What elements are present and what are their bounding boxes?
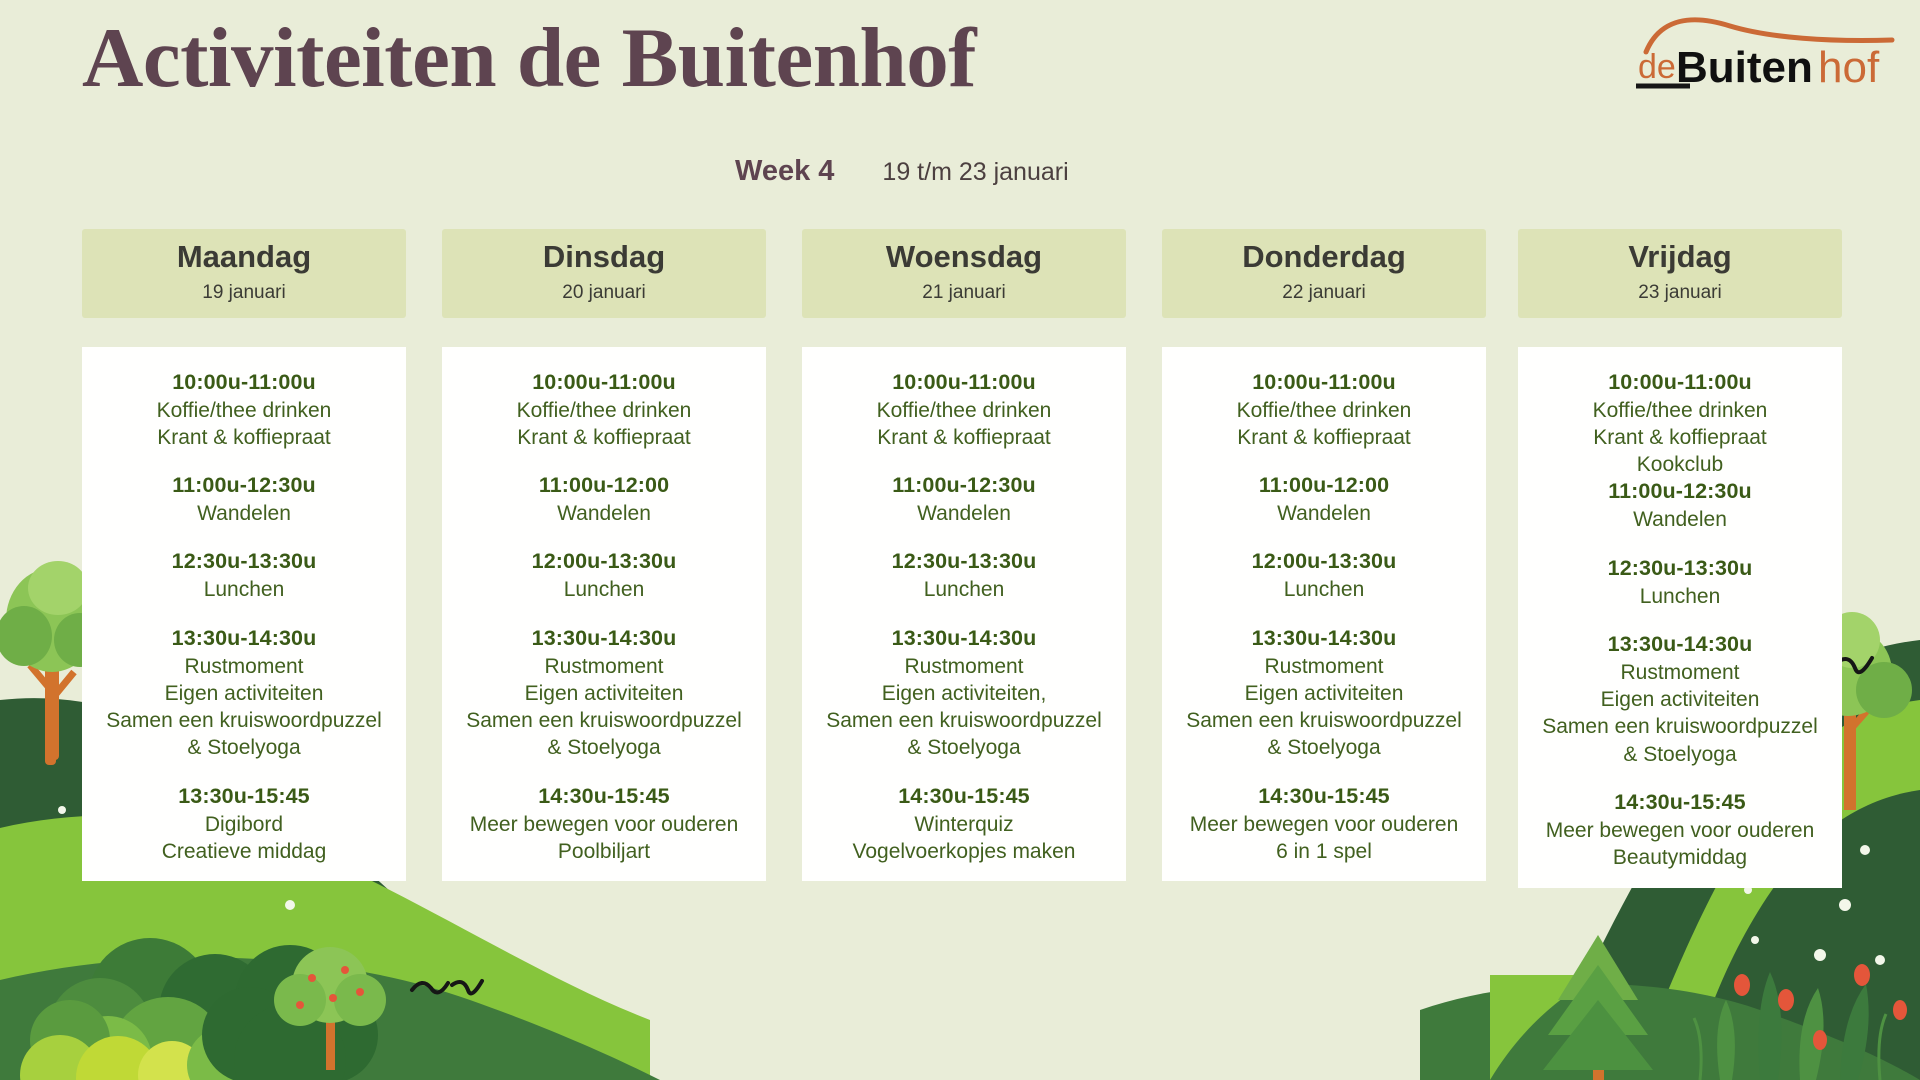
- schedule-block[interactable]: 11:00u-12:00Wandelen: [1168, 472, 1480, 527]
- day-date: 22 januari: [1166, 282, 1482, 304]
- date-range-label: 19 t/m 23 januari: [882, 158, 1068, 187]
- block-activity: Meer bewegen voor ouderen: [448, 811, 760, 838]
- block-activity: Koffie/thee drinken: [448, 397, 760, 424]
- schedule-block[interactable]: 13:30u-14:30uRustmomentEigen activiteite…: [1524, 631, 1836, 768]
- block-time: 14:30u-15:45: [808, 783, 1120, 811]
- schedule-block[interactable]: 13:30u-14:30uRustmomentEigen activiteite…: [88, 625, 400, 762]
- block-time: 11:00u-12:30u: [88, 472, 400, 500]
- block-activity: Krant & koffiepraat: [448, 424, 760, 451]
- block-activity: Rustmoment: [808, 653, 1120, 680]
- day-column-woensdag: Woensdag21 januari10:00u-11:00uKoffie/th…: [802, 229, 1126, 881]
- day-name: Vrijdag: [1522, 239, 1838, 275]
- block-activity: Lunchen: [88, 576, 400, 603]
- day-column-donderdag: Donderdag22 januari10:00u-11:00uKoffie/t…: [1162, 229, 1486, 881]
- day-name: Donderdag: [1166, 239, 1482, 275]
- block-activity: & Stoelyoga: [88, 734, 400, 761]
- schedule-block[interactable]: 14:30u-15:45Meer bewegen voor ouderen6 i…: [1168, 783, 1480, 866]
- block-activity: & Stoelyoga: [1524, 741, 1836, 768]
- block-activity: Rustmoment: [1168, 653, 1480, 680]
- block-activity: Digibord: [88, 811, 400, 838]
- block-time: 10:00u-11:00u: [1524, 369, 1836, 397]
- schedule-block[interactable]: 13:30u-14:30uRustmomentEigen activiteite…: [448, 625, 760, 762]
- block-activity: Eigen activiteiten: [1168, 680, 1480, 707]
- block-activity: Samen een kruiswoordpuzzel: [88, 707, 400, 734]
- day-column-vrijdag: Vrijdag23 januari10:00u-11:00uKoffie/the…: [1518, 229, 1842, 888]
- schedule-block[interactable]: 12:00u-13:30uLunchen: [1168, 548, 1480, 603]
- block-activity: Rustmoment: [88, 653, 400, 680]
- block-activity: Koffie/thee drinken: [88, 397, 400, 424]
- block-time: 10:00u-11:00u: [1168, 369, 1480, 397]
- block-activity: Samen een kruiswoordpuzzel: [1168, 707, 1480, 734]
- day-column-dinsdag: Dinsdag20 januari10:00u-11:00uKoffie/the…: [442, 229, 766, 881]
- block-time: 10:00u-11:00u: [88, 369, 400, 397]
- schedule-block[interactable]: 11:00u-12:00Wandelen: [448, 472, 760, 527]
- block-activity: Lunchen: [1168, 576, 1480, 603]
- block-time: 14:30u-15:45: [1524, 789, 1836, 817]
- block-time: 12:00u-13:30u: [1168, 548, 1480, 576]
- block-time: 10:00u-11:00u: [808, 369, 1120, 397]
- day-name: Dinsdag: [446, 239, 762, 275]
- schedule-block[interactable]: 10:00u-11:00uKoffie/thee drinkenKrant & …: [1168, 369, 1480, 452]
- block-activity: Wandelen: [1524, 506, 1836, 533]
- block-activity: Wandelen: [88, 500, 400, 527]
- day-column-maandag: Maandag19 januari10:00u-11:00uKoffie/the…: [82, 229, 406, 881]
- schedule-block[interactable]: 10:00u-11:00uKoffie/thee drinkenKrant & …: [1524, 369, 1836, 479]
- block-activity: Beautymiddag: [1524, 844, 1836, 871]
- block-time: 11:00u-12:00: [1168, 472, 1480, 500]
- block-time: 14:30u-15:45: [448, 783, 760, 811]
- block-activity: Kookclub: [1524, 451, 1836, 478]
- schedule-block[interactable]: 14:30u-15:45WinterquizVogelvoerkopjes ma…: [808, 783, 1120, 866]
- day-card-donderdag: 10:00u-11:00uKoffie/thee drinkenKrant & …: [1162, 347, 1486, 882]
- block-activity: & Stoelyoga: [1168, 734, 1480, 761]
- schedule-block[interactable]: 12:30u-13:30uLunchen: [88, 548, 400, 603]
- block-activity: Samen een kruiswoordpuzzel: [448, 707, 760, 734]
- block-activity: Wandelen: [448, 500, 760, 527]
- schedule-block[interactable]: 14:30u-15:45Meer bewegen voor ouderenBea…: [1524, 789, 1836, 872]
- schedule-block[interactable]: 13:30u-14:30uRustmomentEigen activiteite…: [1168, 625, 1480, 762]
- schedule-block[interactable]: 11:00u-12:30uWandelen: [88, 472, 400, 527]
- block-time: 13:30u-14:30u: [808, 625, 1120, 653]
- block-time: 13:30u-14:30u: [1168, 625, 1480, 653]
- block-time: 14:30u-15:45: [1168, 783, 1480, 811]
- block-time: 11:00u-12:00: [448, 472, 760, 500]
- schedule-block[interactable]: 10:00u-11:00uKoffie/thee drinkenKrant & …: [448, 369, 760, 452]
- schedule-block[interactable]: 10:00u-11:00uKoffie/thee drinkenKrant & …: [88, 369, 400, 452]
- block-activity: Koffie/thee drinken: [1168, 397, 1480, 424]
- schedule-block[interactable]: 13:30u-15:45DigibordCreatieve middag: [88, 783, 400, 866]
- block-activity: Lunchen: [448, 576, 760, 603]
- day-card-woensdag: 10:00u-11:00uKoffie/thee drinkenKrant & …: [802, 347, 1126, 882]
- page-title: Activiteiten de Buitenhof: [82, 16, 976, 101]
- block-activity: Eigen activiteiten: [88, 680, 400, 707]
- day-header-maandag[interactable]: Maandag19 januari: [82, 229, 406, 318]
- block-activity: Krant & koffiepraat: [1168, 424, 1480, 451]
- day-card-vrijdag: 10:00u-11:00uKoffie/thee drinkenKrant & …: [1518, 347, 1842, 888]
- schedule-block[interactable]: 10:00u-11:00uKoffie/thee drinkenKrant & …: [808, 369, 1120, 452]
- block-activity: Samen een kruiswoordpuzzel: [1524, 713, 1836, 740]
- block-activity: Eigen activiteiten: [1524, 686, 1836, 713]
- block-activity: Creatieve middag: [88, 838, 400, 865]
- day-header-vrijdag[interactable]: Vrijdag23 januari: [1518, 229, 1842, 318]
- block-activity: Eigen activiteiten,: [808, 680, 1120, 707]
- block-activity: Koffie/thee drinken: [808, 397, 1120, 424]
- day-card-maandag: 10:00u-11:00uKoffie/thee drinkenKrant & …: [82, 347, 406, 882]
- block-activity: Eigen activiteiten: [448, 680, 760, 707]
- day-header-woensdag[interactable]: Woensdag21 januari: [802, 229, 1126, 318]
- day-date: 21 januari: [806, 282, 1122, 304]
- block-time: 11:00u-12:30u: [808, 472, 1120, 500]
- logo-text-hof: hof: [1818, 43, 1880, 92]
- day-date: 23 januari: [1522, 282, 1838, 304]
- block-activity: Krant & koffiepraat: [808, 424, 1120, 451]
- logo-text-de: de: [1638, 48, 1676, 86]
- block-time: 12:00u-13:30u: [448, 548, 760, 576]
- schedule-block[interactable]: 11:00u-12:30uWandelen: [808, 472, 1120, 527]
- block-activity: Wandelen: [808, 500, 1120, 527]
- block-activity: Wandelen: [1168, 500, 1480, 527]
- block-time: 13:30u-14:30u: [1524, 631, 1836, 659]
- block-activity: Krant & koffiepraat: [88, 424, 400, 451]
- day-date: 19 januari: [86, 282, 402, 304]
- week-subtitle: Week 4 19 t/m 23 januari: [735, 155, 1069, 188]
- block-activity: Meer bewegen voor ouderen: [1168, 811, 1480, 838]
- block-activity: Poolbiljart: [448, 838, 760, 865]
- block-activity: 6 in 1 spel: [1168, 838, 1480, 865]
- block-time: 13:30u-14:30u: [88, 625, 400, 653]
- day-header-donderdag[interactable]: Donderdag22 januari: [1162, 229, 1486, 318]
- schedule-block[interactable]: 12:30u-13:30uLunchen: [808, 548, 1120, 603]
- schedule-block[interactable]: 12:00u-13:30uLunchen: [448, 548, 760, 603]
- block-activity: Samen een kruiswoordpuzzel: [808, 707, 1120, 734]
- block-time: 12:30u-13:30u: [88, 548, 400, 576]
- day-header-dinsdag[interactable]: Dinsdag20 januari: [442, 229, 766, 318]
- block-time: 10:00u-11:00u: [448, 369, 760, 397]
- block-activity: Krant & koffiepraat: [1524, 424, 1836, 451]
- schedule-block[interactable]: 12:30u-13:30uLunchen: [1524, 555, 1836, 610]
- day-date: 20 januari: [446, 282, 762, 304]
- block-time: 11:00u-12:30u: [1524, 478, 1836, 506]
- block-activity: Rustmoment: [1524, 659, 1836, 686]
- block-activity: Vogelvoerkopjes maken: [808, 838, 1120, 865]
- block-time: 13:30u-15:45: [88, 783, 400, 811]
- block-activity: Lunchen: [808, 576, 1120, 603]
- block-activity: Meer bewegen voor ouderen: [1524, 817, 1836, 844]
- block-activity: & Stoelyoga: [448, 734, 760, 761]
- block-time: 12:30u-13:30u: [1524, 555, 1836, 583]
- block-activity: Koffie/thee drinken: [1524, 397, 1836, 424]
- block-activity: Lunchen: [1524, 583, 1836, 610]
- schedule-block[interactable]: 11:00u-12:30uWandelen: [1524, 478, 1836, 533]
- day-card-dinsdag: 10:00u-11:00uKoffie/thee drinkenKrant & …: [442, 347, 766, 882]
- day-name: Maandag: [86, 239, 402, 275]
- week-label: Week 4: [735, 155, 834, 188]
- block-activity: & Stoelyoga: [808, 734, 1120, 761]
- block-time: 12:30u-13:30u: [808, 548, 1120, 576]
- block-activity: Winterquiz: [808, 811, 1120, 838]
- logo-text-buiten: Buiten: [1676, 43, 1813, 92]
- logo-de-buitenhof[interactable]: de Buiten hof: [1630, 12, 1900, 96]
- schedule-block[interactable]: 14:30u-15:45Meer bewegen voor ouderenPoo…: [448, 783, 760, 866]
- day-name: Woensdag: [806, 239, 1122, 275]
- schedule-block[interactable]: 13:30u-14:30uRustmomentEigen activiteite…: [808, 625, 1120, 762]
- block-activity: Rustmoment: [448, 653, 760, 680]
- block-time: 13:30u-14:30u: [448, 625, 760, 653]
